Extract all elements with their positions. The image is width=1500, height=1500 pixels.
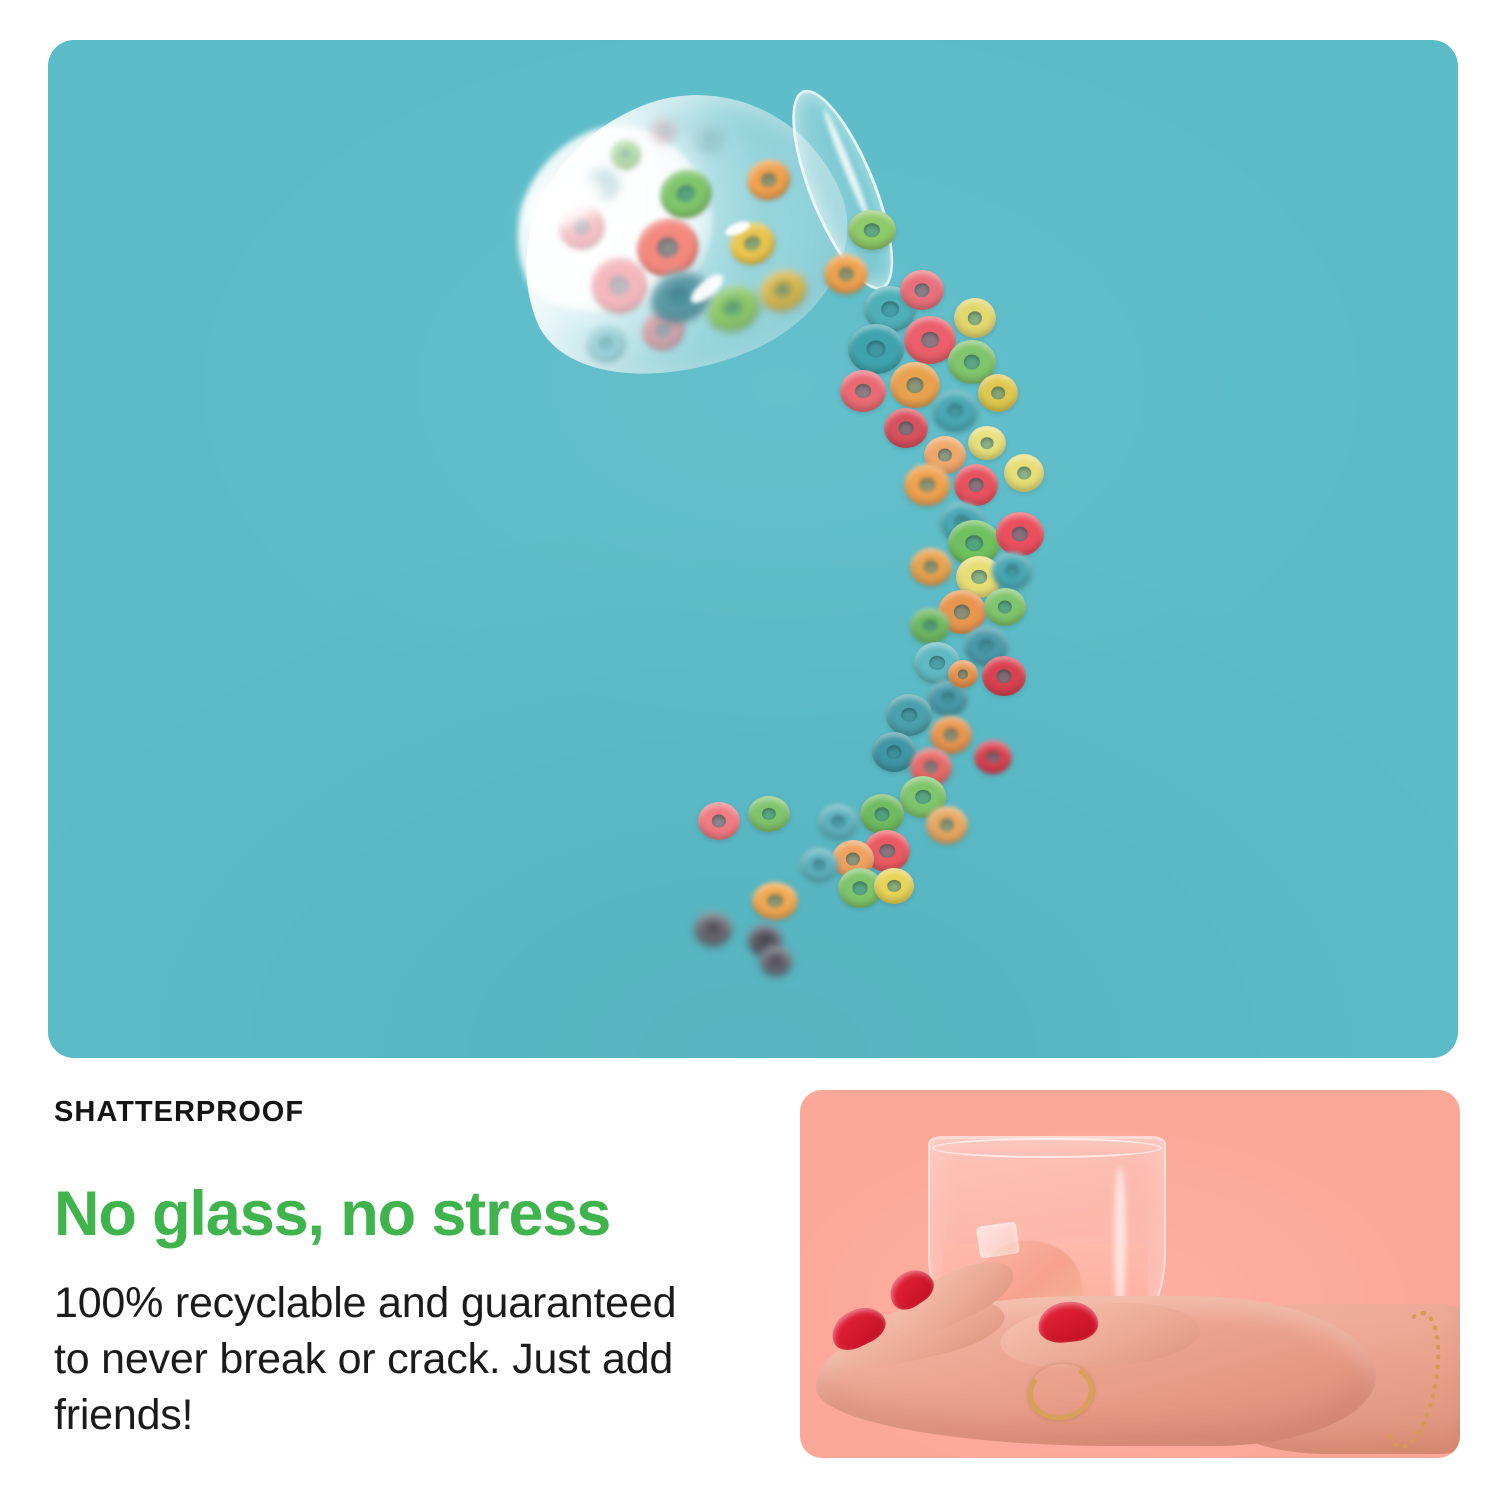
cereal-ring	[982, 656, 1026, 696]
cereal-ring	[748, 796, 790, 832]
cereal-ring	[992, 552, 1032, 590]
hand	[810, 1270, 1460, 1458]
cereal-ring	[948, 660, 978, 688]
ice-cube	[976, 1221, 1020, 1258]
cereal-ring	[886, 694, 932, 736]
cereal-ring	[818, 804, 858, 840]
cereal-ring	[848, 324, 904, 374]
lifestyle-image-panel	[800, 1090, 1460, 1458]
cereal-ring	[904, 464, 950, 506]
wine-glass-rim	[932, 1138, 1162, 1158]
cereal-ring	[760, 946, 792, 976]
cereal-ring	[1004, 454, 1044, 492]
cereal-ring	[978, 374, 1018, 412]
cereal-ring	[848, 210, 896, 250]
cereal-ring	[974, 740, 1012, 774]
product-feature-card: SHATTERPROOF No glass, no stress 100% re…	[0, 0, 1500, 1500]
hero-image-panel	[48, 40, 1458, 1058]
cereal-ring	[860, 794, 904, 834]
cereal-ring	[954, 464, 998, 506]
cereal-ring	[984, 588, 1026, 626]
cereal-ring	[800, 848, 838, 882]
feature-headline: No glass, no stress	[54, 1183, 714, 1246]
cereal-spill-scene	[48, 40, 1458, 1058]
feature-eyebrow: SHATTERPROOF	[54, 1098, 714, 1127]
cereal-ring	[890, 362, 940, 408]
cereal-ring	[900, 270, 944, 310]
cereal-ring	[954, 298, 996, 338]
cereal-ring	[910, 608, 950, 644]
feature-copy-block: SHATTERPROOF No glass, no stress 100% re…	[54, 1098, 714, 1444]
cereal-ring	[874, 868, 914, 904]
cereal-ring	[932, 390, 978, 432]
feature-subcopy: 100% recyclable and guaranteed to never …	[54, 1276, 714, 1444]
cereal-ring	[824, 254, 868, 294]
cereal-ring	[926, 806, 968, 844]
cereal-ring	[698, 802, 740, 840]
cereal-ring	[996, 512, 1044, 556]
cereal-ring	[968, 426, 1006, 460]
cereal-ring	[840, 370, 886, 412]
cereal-ring	[884, 408, 928, 448]
cereal-ring	[694, 912, 732, 946]
cereal-ring	[910, 548, 952, 586]
cereal-ring	[752, 882, 798, 920]
